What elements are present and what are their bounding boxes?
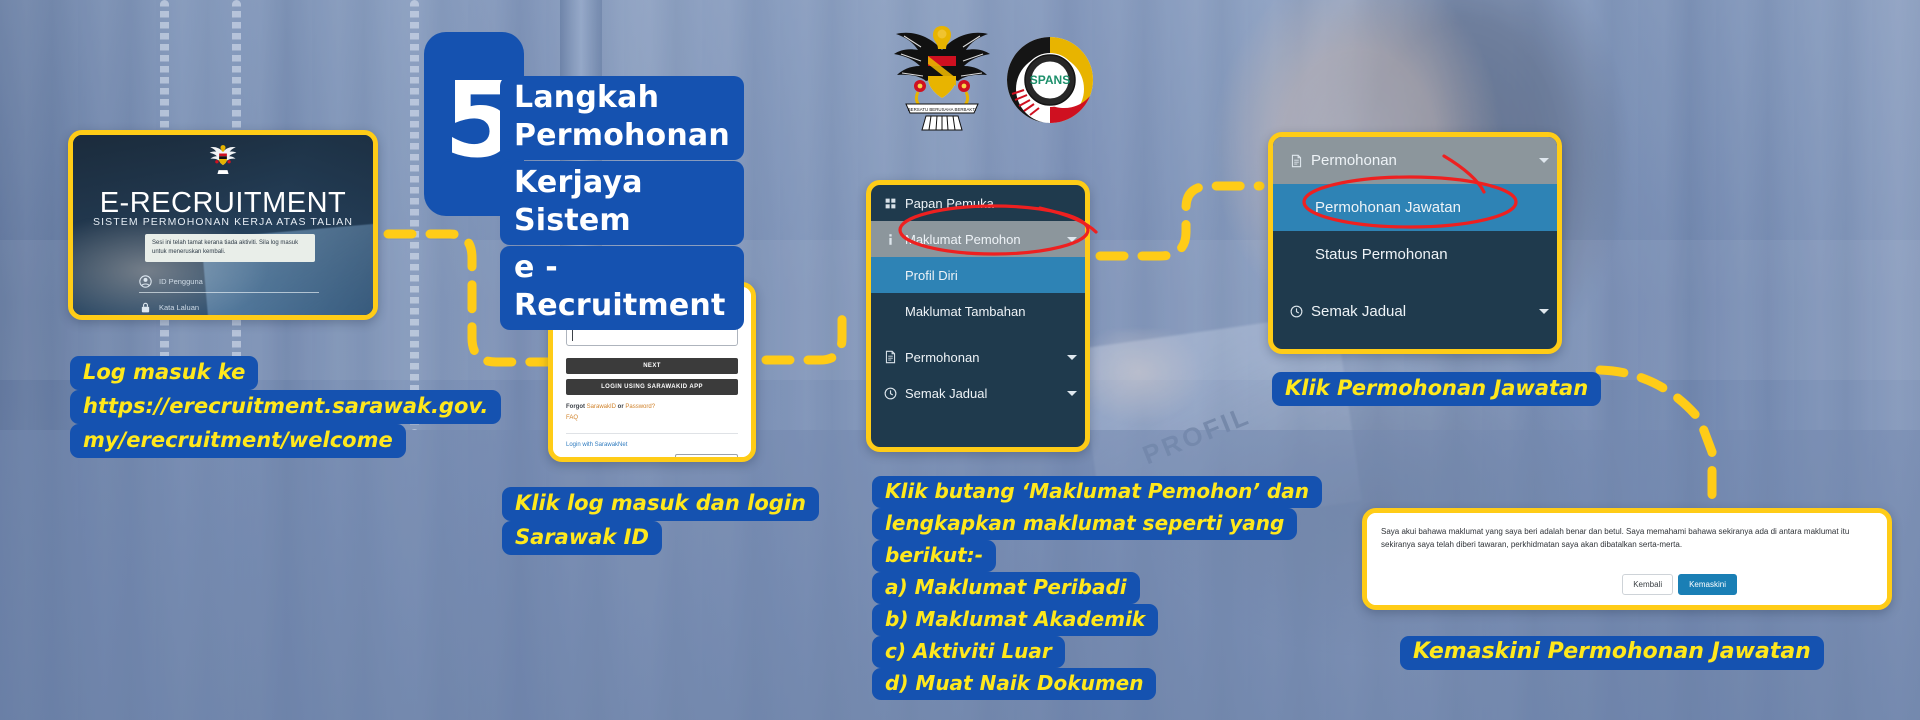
applicant-nav-item-label: Maklumat Tambahan xyxy=(905,304,1059,319)
info-icon xyxy=(875,233,905,246)
application-nav-screenshot[interactable]: PermohonanPermohonan JawatanStatus Permo… xyxy=(1268,132,1562,354)
caption-line: Klik butang ‘Maklumat Pemohon’ dan xyxy=(872,476,1322,508)
applicant-nav-item-label: Profil Diri xyxy=(905,268,1059,283)
caption-line: c) Aktiviti Luar xyxy=(872,636,1065,668)
erec-username-field[interactable]: ID Pengguna xyxy=(139,271,319,293)
applicant-nav-item-maklumat-pemohon[interactable]: Maklumat Pemohon xyxy=(871,221,1085,257)
applicant-nav-item-maklumat-tambahan[interactable]: Maklumat Tambahan xyxy=(871,293,1085,329)
application-nav-list: PermohonanPermohonan JawatanStatus Permo… xyxy=(1273,137,1557,335)
sarawakid-next-button[interactable]: NEXT xyxy=(566,358,738,374)
dashboard-icon xyxy=(875,197,905,210)
caption-maklumat-pemohon: Klik butang ‘Maklumat Pemohon’ dan lengk… xyxy=(872,476,1322,700)
applicant-nav-item-papan-pemuka[interactable]: Papan Pemuka xyxy=(871,185,1085,221)
nav-spacer xyxy=(1273,278,1557,288)
declaration-text: Saya akui bahawa maklumat yang saya beri… xyxy=(1381,525,1873,551)
faq-link[interactable]: FAQ xyxy=(566,415,578,421)
erec-password-placeholder: Kata Laluan xyxy=(159,303,199,312)
caption-line: Klik log masuk dan login xyxy=(502,487,819,521)
declaration-actions: Kembali Kemaskini xyxy=(1622,574,1737,595)
applicant-nav-item-label: Maklumat Pemohon xyxy=(905,232,1059,247)
application-nav-item-permohonan-jawatan[interactable]: Permohonan Jawatan xyxy=(1273,184,1557,231)
forgot-mid: or xyxy=(616,404,625,410)
applicant-nav-list: Papan PemukaMaklumat PemohonProfil DiriM… xyxy=(871,185,1085,411)
chevron-down-icon[interactable] xyxy=(1059,391,1085,396)
sarawaknet-login-link[interactable]: Login with SarawakNet xyxy=(566,442,738,448)
application-nav-item-status-permohonan[interactable]: Status Permohonan xyxy=(1273,231,1557,278)
document-icon xyxy=(1281,154,1311,168)
application-nav-item-label: Semak Jadual xyxy=(1311,303,1531,320)
erec-crest-icon xyxy=(208,142,238,176)
forgot-sarawakid-link[interactable]: SarawakID xyxy=(587,404,616,410)
sarawakid-app-login-button[interactable]: LOGIN USING SARAWAKID APP xyxy=(566,379,738,395)
title-line-2: Kerjaya Sistem xyxy=(500,161,744,245)
erec-session-notice: Sesi ini telah tamat kerana tiada aktivi… xyxy=(145,234,315,262)
chevron-down-icon[interactable] xyxy=(1059,355,1085,360)
applicant-nav-item-profil-diri[interactable]: Profil Diri xyxy=(871,257,1085,293)
caption-line: Log masuk ke xyxy=(70,356,258,390)
sarawakid-help-links: Forgot SarawakID or Password? FAQ xyxy=(566,402,738,424)
caption-line: a) Maklumat Peribadi xyxy=(872,572,1140,604)
sarawak-crest-icon: BERSATU BERUSAHA BERBAKTI xyxy=(888,16,996,136)
forgot-password-link[interactable]: Password? xyxy=(625,404,655,410)
title-text: Langkah Permohonan Kerjaya Sistem e - Re… xyxy=(500,76,744,331)
application-nav-item-permohonan[interactable]: Permohonan xyxy=(1273,137,1557,184)
chevron-down-icon[interactable] xyxy=(1531,158,1557,163)
erec-subtitle: SISTEM PERMOHONAN KERJA ATAS TALIAN xyxy=(73,216,373,228)
no-account-label: Don't have an account yet? xyxy=(566,459,639,462)
caption-kemaskini-permohonan: Kemaskini Permohonan Jawatan xyxy=(1400,636,1824,670)
nav-spacer xyxy=(871,329,1085,339)
chevron-down-icon[interactable] xyxy=(1059,237,1085,242)
applicant-nav-item-semak-jadual[interactable]: Semak Jadual xyxy=(871,375,1085,411)
caption-line: lengkapkan maklumat seperti yang xyxy=(872,508,1297,540)
user-icon xyxy=(139,275,152,288)
applicant-nav-item-label: Permohonan xyxy=(905,350,1059,365)
caption-line: Klik Permohonan Jawatan xyxy=(1272,372,1601,406)
caption-line: my/erecruitment/welcome xyxy=(70,424,406,458)
svg-text:BERSATU BERUSAHA BERBAKTI: BERSATU BERUSAHA BERBAKTI xyxy=(908,107,976,112)
applicant-nav-item-label: Papan Pemuka xyxy=(905,196,1059,211)
caption-line: https://erecruitment.sarawak.gov. xyxy=(70,390,501,424)
forgot-prefix: Forgot xyxy=(566,404,587,410)
document-icon xyxy=(875,350,905,364)
caption-line: Sarawak ID xyxy=(502,521,662,555)
caption-login-url: Log masuk ke https://erecruitment.sarawa… xyxy=(70,356,501,458)
applicant-nav-item-label: Semak Jadual xyxy=(905,386,1059,401)
erecruitment-login-screenshot[interactable]: E-RECRUITMENT SISTEM PERMOHONAN KERJA AT… xyxy=(68,130,378,320)
clock-icon xyxy=(1281,305,1311,318)
caption-click-login: Klik log masuk dan login Sarawak ID xyxy=(502,487,819,555)
title-line-1: Langkah Permohonan xyxy=(500,76,744,160)
applicant-nav-screenshot[interactable]: Papan PemukaMaklumat PemohonProfil DiriM… xyxy=(866,180,1090,452)
erec-username-placeholder: ID Pengguna xyxy=(159,277,203,286)
register-now-button[interactable]: REGISTER NOW xyxy=(675,454,738,462)
application-nav-item-label: Permohonan Jawatan xyxy=(1315,199,1531,216)
application-nav-item-label: Permohonan xyxy=(1311,152,1531,169)
caption-klik-permohonan-jawatan: Klik Permohonan Jawatan xyxy=(1272,372,1601,406)
svg-text:SPANS: SPANS xyxy=(1030,73,1070,87)
title-line-3: e - Recruitment xyxy=(500,246,744,330)
kembali-button[interactable]: Kembali xyxy=(1622,574,1673,595)
caption-line: d) Muat Naik Dokumen xyxy=(872,668,1156,700)
spans-logo-icon: SPANS xyxy=(1006,36,1094,124)
applicant-nav-item-permohonan[interactable]: Permohonan xyxy=(871,339,1085,375)
kemaskini-button[interactable]: Kemaskini xyxy=(1678,574,1737,595)
caption-line: b) Maklumat Akademik xyxy=(872,604,1158,636)
caption-line: berikut:- xyxy=(872,540,996,572)
caption-line: Kemaskini Permohonan Jawatan xyxy=(1400,636,1824,670)
application-nav-item-label: Status Permohonan xyxy=(1315,246,1531,263)
erec-password-field[interactable]: Kata Laluan xyxy=(139,297,319,319)
infographic-canvas: PROFIL 5 Langkah Permohonan Kerjaya Sist… xyxy=(0,0,1920,720)
lock-icon xyxy=(139,301,152,314)
application-nav-item-semak-jadual[interactable]: Semak Jadual xyxy=(1273,288,1557,335)
declaration-dialog-screenshot[interactable]: Saya akui bahawa maklumat yang saya beri… xyxy=(1362,508,1892,610)
divider xyxy=(566,433,738,434)
chevron-down-icon[interactable] xyxy=(1531,309,1557,314)
clock-icon xyxy=(875,387,905,400)
